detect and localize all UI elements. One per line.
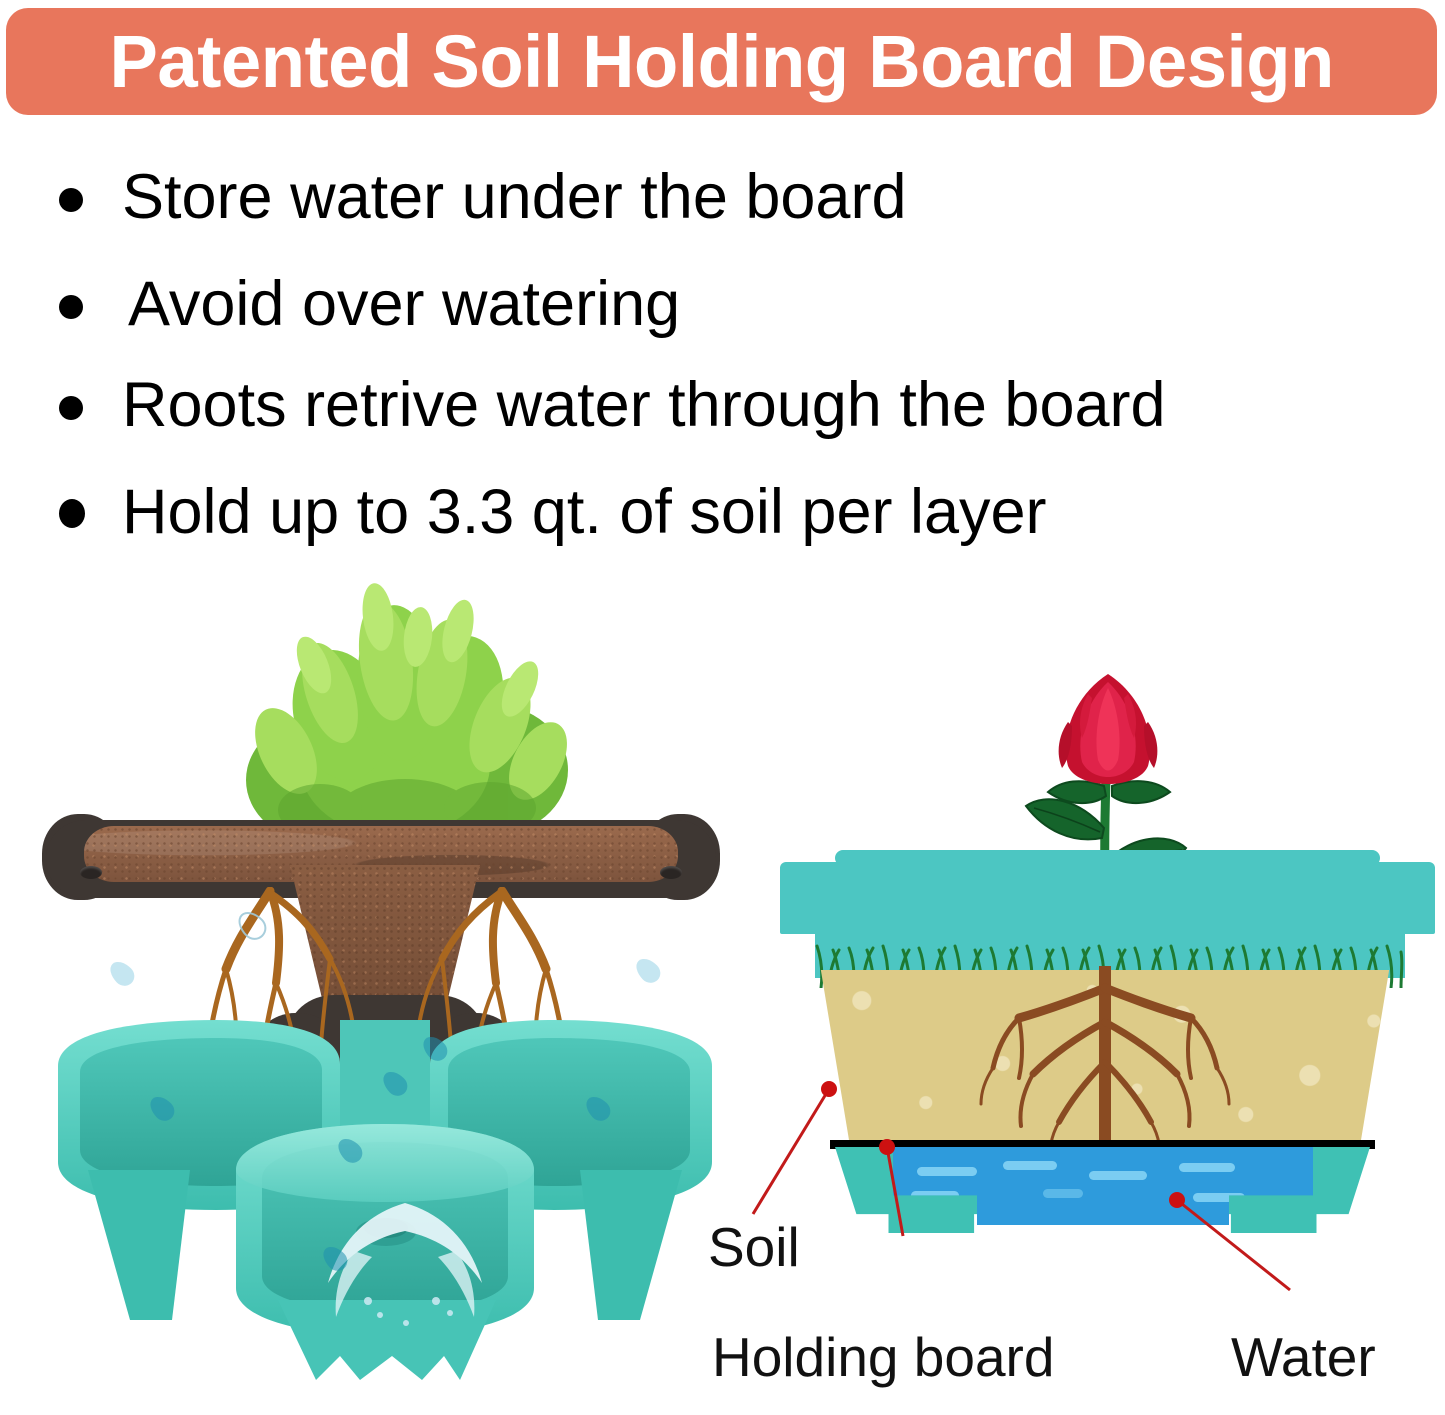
bullet-dot-icon	[59, 295, 83, 319]
water-drop-icon	[631, 954, 664, 987]
header-banner: Patented Soil Holding Board Design	[6, 8, 1437, 115]
list-item: Roots retrive water through the board	[0, 358, 1445, 463]
cross-section-diagram: Soil Holding board Water	[745, 640, 1445, 1320]
label-soil: Soil	[708, 1220, 800, 1275]
list-item: Avoid over watering	[0, 253, 1445, 358]
product-photo	[40, 565, 730, 1380]
infographic-stage: Patented Soil Holding Board Design Store…	[0, 0, 1445, 1415]
board-drain-hole	[80, 866, 102, 879]
label-water: Water	[1231, 1330, 1376, 1385]
leader-line-soil	[753, 1089, 829, 1214]
pot-rim	[780, 862, 1435, 934]
feature-text: Hold up to 3.3 qt. of soil per layer	[122, 481, 1047, 544]
list-item: Hold up to 3.3 qt. of soil per layer	[0, 463, 1445, 568]
bullet-dot-icon	[59, 499, 85, 528]
feature-text: Roots retrive water through the board	[122, 374, 1166, 437]
feature-list: Store water under the board Avoid over w…	[0, 148, 1445, 568]
board-drain-hole	[660, 866, 682, 879]
list-item: Store water under the board	[0, 148, 1445, 253]
bullet-dot-icon	[59, 396, 83, 420]
feature-text: Avoid over watering	[128, 273, 680, 336]
feature-text: Store water under the board	[122, 166, 907, 229]
water-drop-icon	[105, 957, 138, 990]
label-holding-board: Holding board	[712, 1330, 1054, 1385]
bullet-dot-icon	[59, 188, 83, 212]
page-title: Patented Soil Holding Board Design	[109, 25, 1333, 99]
